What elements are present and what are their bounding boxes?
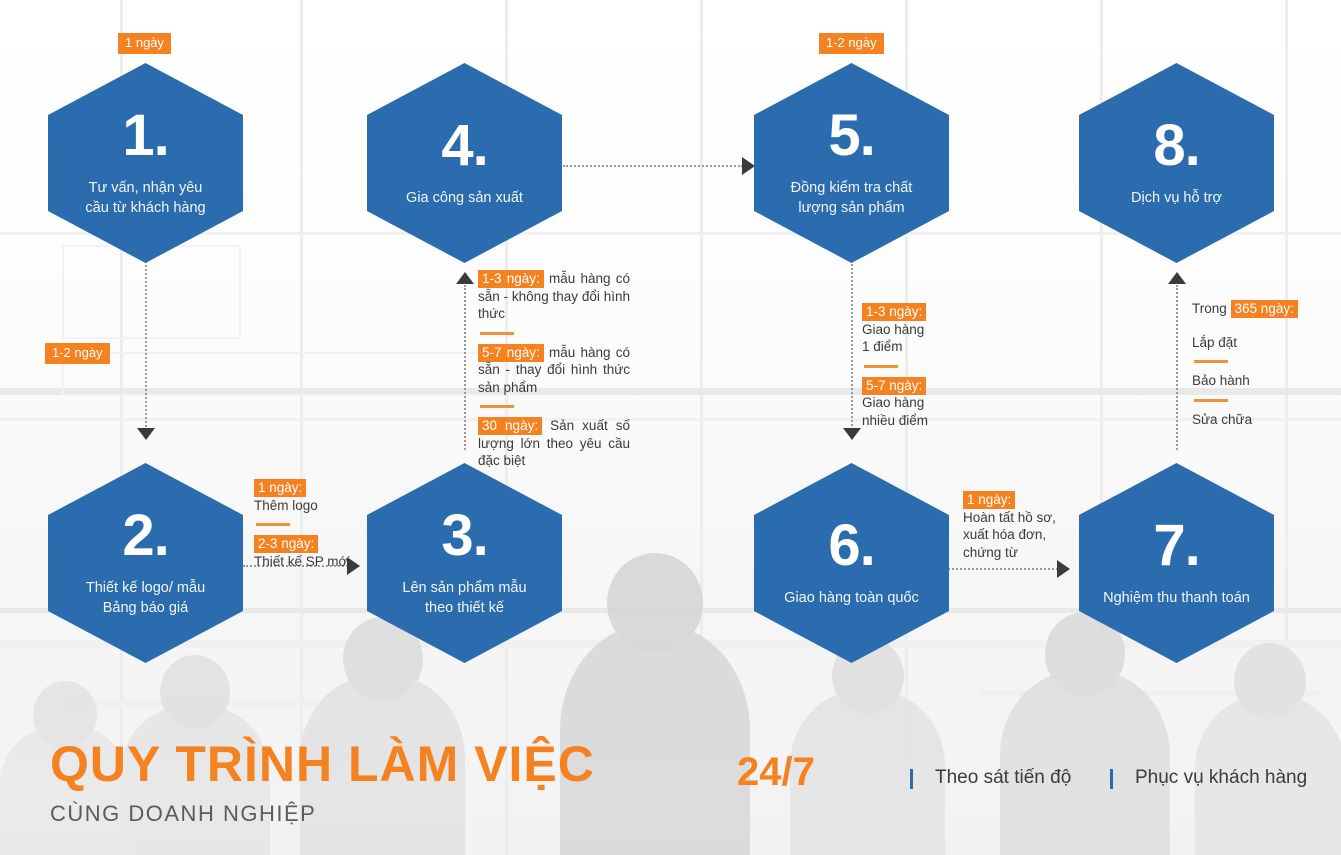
infographic-canvas: 1-2 ngày 1 ngày 1-2 ngày 1. Tư vấn, nhận…	[0, 0, 1341, 855]
footer-separator-1	[910, 769, 913, 789]
badge-step-1: 1 ngày	[118, 33, 171, 54]
step-1-caption: Tư vấn, nhận yêu cầu từ khách hàng	[85, 179, 205, 218]
step-node-3[interactable]: 3. Lên sản phẩm mẫu theo thiết kế	[367, 463, 562, 663]
step-5-caption: Đồng kiểm tra chất lượng sản phẩm	[791, 179, 913, 218]
note-6-7-label-0: 1 ngày:	[963, 491, 1015, 509]
footer-highlight-247: 24/7	[737, 750, 815, 795]
step-node-4[interactable]: 4. Gia công sản xuất	[367, 63, 562, 263]
arrow-5-to-6-icon	[843, 428, 861, 440]
step-8-number: 8.	[1153, 117, 1199, 175]
step-node-8[interactable]: 8. Dịch vụ hỗ trợ	[1079, 63, 1274, 263]
step-node-7[interactable]: 7. Nghiệm thu thanh toán	[1079, 463, 1274, 663]
note-6-7-text-0: Hoàn tất hồ sơ, xuất hóa đơn, chứng từ	[963, 510, 1056, 560]
note-7-8-prefix: Trong	[1192, 301, 1231, 316]
step-7-caption: Nghiệm thu thanh toán	[1103, 589, 1250, 609]
arrow-1-to-2-icon	[137, 428, 155, 440]
step-4-caption: Gia công sản xuất	[406, 189, 523, 209]
note-divider	[480, 405, 514, 408]
note-step-6-to-7: 1 ngày: Hoàn tất hồ sơ, xuất hóa đơn, ch…	[963, 491, 1088, 561]
step-2-number: 2.	[122, 507, 168, 565]
step-5-number: 5.	[828, 107, 874, 165]
connector-6-to-7	[948, 568, 1058, 570]
step-6-caption: Giao hàng toàn quốc	[784, 589, 919, 609]
note-divider	[1194, 399, 1228, 402]
step-node-5[interactable]: 5. Đồng kiểm tra chất lượng sản phẩm	[754, 63, 949, 263]
note-7-8-label: 365 ngày:	[1231, 300, 1298, 318]
footer: QUY TRÌNH LÀM VIỆC CÙNG DOANH NGHIỆP 24/…	[0, 705, 1341, 855]
note-2-3-label-0: 1 ngày:	[254, 479, 306, 497]
arrow-3-to-4-icon	[456, 272, 474, 284]
step-4-number: 4.	[441, 117, 487, 175]
note-5-6-text-1: Giao hàng nhiều điểm	[862, 395, 928, 428]
note-divider	[1194, 360, 1228, 363]
step-1-number: 1.	[122, 107, 168, 165]
note-divider	[256, 523, 290, 526]
footer-item-0: Theo sát tiến độ	[935, 767, 1071, 789]
footer-separator-2	[1110, 769, 1113, 789]
step-node-1[interactable]: 1. Tư vấn, nhận yêu cầu từ khách hàng	[48, 63, 243, 263]
step-node-6[interactable]: 6. Giao hàng toàn quốc	[754, 463, 949, 663]
note-5-6-text-0: Giao hàng 1 điểm	[862, 322, 924, 355]
step-8-caption: Dịch vụ hỗ trợ	[1131, 189, 1222, 209]
note-3-4-label-2: 30 ngày:	[478, 417, 542, 435]
badge-connector-1-to-2: 1-2 ngày	[45, 343, 110, 364]
footer-item-1: Phục vụ khách hàng	[1135, 767, 1307, 789]
note-5-6-label-1: 5-7 ngày:	[862, 377, 926, 395]
note-7-8-item-0: Lắp đặt	[1192, 335, 1237, 350]
note-step-2-to-3: 1 ngày: Thêm logo 2-3 ngày: Thiết kế SP …	[254, 479, 374, 570]
note-2-3-label-1: 2-3 ngày:	[254, 535, 318, 553]
note-3-4-label-1: 5-7 ngày:	[478, 344, 544, 362]
step-7-number: 7.	[1153, 517, 1199, 575]
step-2-caption: Thiết kế logo/ mẫu Bảng báo giá	[86, 579, 205, 618]
connector-3-to-4	[464, 285, 466, 450]
arrow-4-to-5-icon	[742, 157, 755, 175]
note-divider	[864, 365, 898, 368]
note-step-7-to-8: Trong 365 ngày: Lắp đặt Bảo hành Sửa chữ…	[1192, 300, 1337, 428]
page-title: QUY TRÌNH LÀM VIỆC	[50, 735, 595, 793]
note-step-3-to-4: 1-3 ngày: mẫu hàng có sẵn - không thay đ…	[478, 270, 630, 470]
connector-4-to-5	[563, 165, 743, 167]
note-2-3-text-0: Thêm logo	[254, 498, 318, 513]
arrow-7-to-8-icon	[1168, 272, 1186, 284]
note-2-3-text-1: Thiết kế SP mới	[254, 554, 350, 569]
note-5-6-label-0: 1-3 ngày:	[862, 303, 926, 321]
badge-step-5: 1-2 ngày	[819, 33, 884, 54]
step-3-number: 3.	[441, 507, 487, 565]
note-step-5-to-6: 1-3 ngày: Giao hàng 1 điểm 5-7 ngày: Gia…	[862, 303, 982, 429]
step-node-2[interactable]: 2. Thiết kế logo/ mẫu Bảng báo giá	[48, 463, 243, 663]
note-3-4-label-0: 1-3 ngày:	[478, 270, 544, 288]
page-subtitle: CÙNG DOANH NGHIỆP	[50, 801, 316, 827]
connector-7-to-8	[1176, 285, 1178, 450]
note-7-8-item-2: Sửa chữa	[1192, 412, 1252, 427]
step-6-number: 6.	[828, 517, 874, 575]
step-3-caption: Lên sản phẩm mẫu theo thiết kế	[402, 579, 526, 618]
arrow-6-to-7-icon	[1057, 560, 1070, 578]
note-divider	[480, 332, 514, 335]
note-7-8-item-1: Bảo hành	[1192, 373, 1250, 388]
